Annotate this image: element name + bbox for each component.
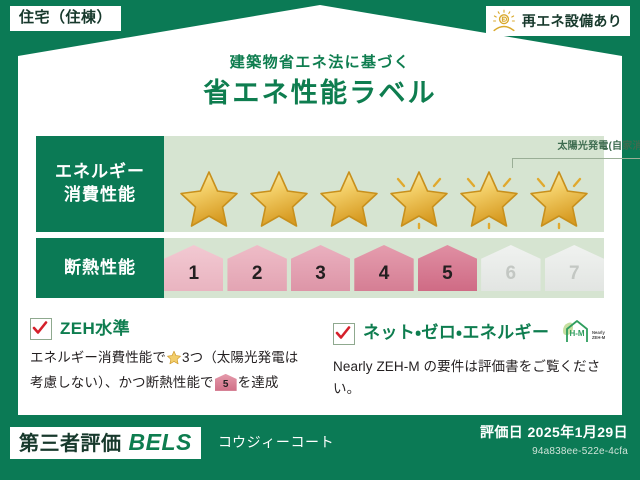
zeh-m-logo-text: H-M <box>570 329 585 338</box>
housing-type-tag: 住宅（住棟） <box>10 6 121 31</box>
zeh-criterion: ZEH水準 エネルギー消費性能で3つ（太陽光発電は考慮しない）、かつ断熱性能で5… <box>30 318 311 400</box>
insulation-performance-row: 断熱性能 1 2 3 4 5 6 7 <box>36 238 604 298</box>
evaluation-date-label: 評価日 <box>480 424 523 440</box>
netzero-criterion: ネット・ゼロ・エネルギー H-M Nearly ZEH-M Nearly ZEH… <box>333 318 614 400</box>
star-icon <box>175 164 243 230</box>
solar-sun-icon-svg <box>491 9 517 33</box>
insulation-performance-panel: 1 2 3 4 5 6 7 <box>164 238 604 298</box>
zeh-body-part1: エネルギー消費性能で <box>30 350 166 365</box>
grade-badge-achieved: 5 <box>418 245 477 291</box>
grade-badge: 1 <box>164 245 223 291</box>
zeh-criterion-body: エネルギー消費性能で3つ（太陽光発電は考慮しない）、かつ断熱性能で5を達成 <box>30 347 311 394</box>
grade-value: 3 <box>315 264 326 291</box>
check-icon <box>333 323 355 345</box>
energy-label-line2: 消費性能 <box>64 184 136 207</box>
star-icon <box>315 164 383 230</box>
grade-badge: 2 <box>227 245 286 291</box>
insulation-grade-scale: 1 2 3 4 5 6 7 <box>164 238 604 298</box>
footer-bar: 第三者評価 BELS コウジィーコート 評価日 2025年1月29日 94a83… <box>0 415 640 480</box>
check-icon <box>30 318 52 340</box>
evaluation-id: 94a838ee-522e-4cfa <box>532 446 628 457</box>
grade-badge-inactive: 6 <box>481 245 540 291</box>
netzero-criterion-title: ネット・ゼロ・エネルギー <box>363 324 549 343</box>
energy-performance-label: エネルギー 消費性能 <box>36 136 164 232</box>
energy-star-rating <box>164 164 604 230</box>
renewable-equipment-badge: 再エネ設備あり <box>486 6 630 36</box>
netzero-criterion-body: Nearly ZEH-M の要件は評価書をご覧ください。 <box>333 356 614 400</box>
solar-portion-caption: 太陽光発電(自家消費)分 <box>482 141 640 152</box>
inline-grade-badge: 5 <box>215 374 237 391</box>
grade-badge-inactive: 7 <box>545 245 604 291</box>
page-title: 建築物省エネ法に基づく 省エネ性能ラベル <box>0 55 640 110</box>
insulation-label-text: 断熱性能 <box>64 257 136 280</box>
energy-performance-panel: 太陽光発電(自家消費)分 <box>164 136 604 232</box>
zeh-body-part3: を達成 <box>238 375 279 390</box>
inline-star-icon <box>166 349 182 372</box>
zeh-m-logo-sub2: ZEH-M <box>592 335 606 340</box>
solar-sun-icon <box>491 9 517 33</box>
bels-badge: 第三者評価 BELS <box>10 427 201 459</box>
bels-jp-label: 第三者評価 <box>19 433 122 455</box>
building-name: コウジィーコート <box>218 435 334 450</box>
grade-value: 5 <box>442 264 453 291</box>
grade-value: 2 <box>252 264 263 291</box>
check-icon-svg <box>335 325 351 341</box>
star-icon-solar <box>455 164 523 230</box>
criteria-section: ZEH水準 エネルギー消費性能で3つ（太陽光発電は考慮しない）、かつ断熱性能で5… <box>30 318 614 400</box>
grade-badge: 3 <box>291 245 350 291</box>
grade-value: 4 <box>379 264 390 291</box>
grade-value: 1 <box>188 264 199 291</box>
zeh-m-logo-icon: H-M Nearly ZEH-M <box>557 318 610 349</box>
energy-performance-label: 住宅（住棟） 再エネ設備あり 建築物省エネ法に基づく 省 <box>0 0 640 480</box>
check-icon-svg <box>32 320 48 336</box>
star-icon-solar <box>525 164 593 230</box>
evaluation-date: 評価日 2025年1月29日 <box>480 425 628 440</box>
grade-value: 7 <box>569 264 580 291</box>
energy-performance-row: エネルギー 消費性能 太陽光発電(自家消費)分 <box>36 136 604 232</box>
zeh-criterion-title: ZEH水準 <box>60 320 130 339</box>
netzero-criterion-header: ネット・ゼロ・エネルギー H-M Nearly ZEH-M <box>333 318 614 349</box>
energy-label-line1: エネルギー <box>55 161 145 184</box>
inline-grade-value: 5 <box>215 380 237 390</box>
title-heading: 省エネ性能ラベル <box>0 77 640 111</box>
bels-en-label: BELS <box>129 430 192 455</box>
grade-value: 6 <box>506 264 517 291</box>
insulation-performance-label: 断熱性能 <box>36 238 164 298</box>
star-icon-solar <box>385 164 453 230</box>
performance-sections: エネルギー 消費性能 太陽光発電(自家消費)分 <box>36 136 604 304</box>
grade-badge: 4 <box>354 245 413 291</box>
renewable-equipment-label: 再エネ設備あり <box>522 14 622 29</box>
evaluation-date-value: 2025年1月29日 <box>527 424 628 440</box>
star-icon <box>245 164 313 230</box>
zeh-criterion-header: ZEH水準 <box>30 318 311 340</box>
zeh-m-logo-svg: H-M Nearly ZEH-M <box>560 318 610 344</box>
title-subtitle: 建築物省エネ法に基づく <box>0 55 640 72</box>
